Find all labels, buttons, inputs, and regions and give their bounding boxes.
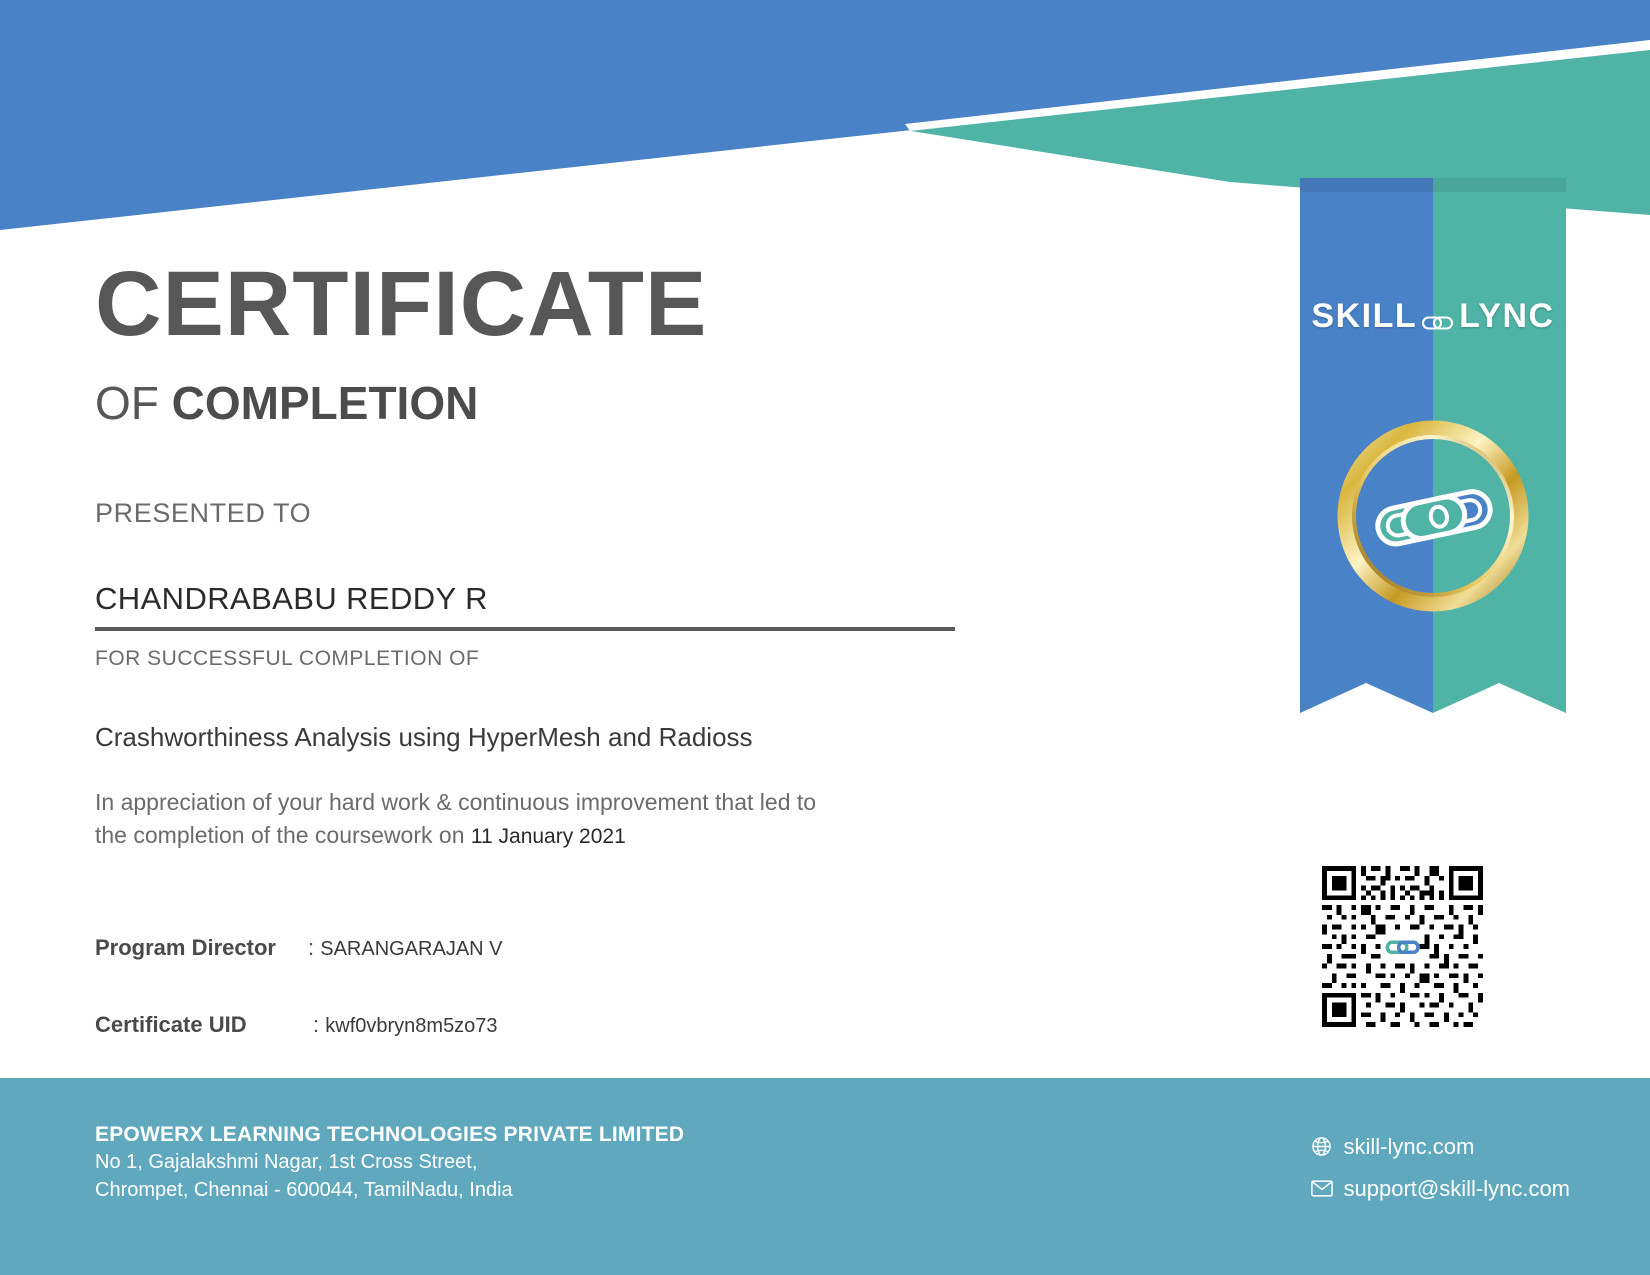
- course-title: Crashworthiness Analysis using HyperMesh…: [95, 722, 753, 753]
- skill-lync-logo: SKILL LYNC: [1300, 290, 1566, 342]
- program-director-row: Program Director: SARANGARAJAN V: [95, 935, 503, 961]
- footer-website-row[interactable]: skill-lync.com: [1311, 1126, 1571, 1168]
- presented-to-label: PRESENTED TO: [95, 498, 311, 529]
- appreciation-line-1: In appreciation of your hard work & cont…: [95, 789, 816, 815]
- certificate-uid-label: Certificate UID: [95, 1012, 313, 1038]
- program-director-separator: :: [308, 935, 314, 960]
- page-title: CERTIFICATE: [95, 258, 707, 350]
- appreciation-line-2: the completion of the coursework on: [95, 822, 471, 848]
- subtitle-of: OF: [95, 377, 159, 429]
- subtitle-completion: COMPLETION: [172, 377, 479, 429]
- qr-code-icon[interactable]: [1322, 866, 1483, 1027]
- certificate-page: SKILL LYNC: [0, 0, 1650, 1275]
- footer-address-line-1: No 1, Gajalakshmi Nagar, 1st Cross Stree…: [95, 1149, 684, 1177]
- certificate-uid-row: Certificate UID: kwf0vbryn8m5zo73: [95, 1012, 498, 1038]
- footer-address-line-2: Chrompet, Chennai - 600044, TamilNadu, I…: [95, 1177, 684, 1205]
- certificate-uid-value: kwf0vbryn8m5zo73: [325, 1015, 497, 1037]
- program-director-name: SARANGARAJAN V: [320, 938, 502, 960]
- footer-website-text: skill-lync.com: [1344, 1126, 1475, 1168]
- footer-email-text: support@skill-lync.com: [1344, 1168, 1571, 1210]
- page-subtitle: OF COMPLETION: [95, 380, 478, 426]
- recipient-underline: [95, 627, 955, 631]
- logo-word-right: LYNC: [1459, 297, 1554, 336]
- gold-medal-seal-icon: [1337, 420, 1529, 612]
- recipient-name: CHANDRABABU REDDY R: [95, 581, 488, 617]
- completion-date: 11 January 2021: [471, 825, 626, 848]
- footer-company-name: EPOWERX LEARNING TECHNOLOGIES PRIVATE LI…: [95, 1121, 684, 1149]
- logo-word-left: SKILL: [1311, 297, 1417, 336]
- banner-shadow-strip: [1300, 178, 1566, 192]
- footer-bar: EPOWERX LEARNING TECHNOLOGIES PRIVATE LI…: [0, 1078, 1650, 1275]
- footer-company-block: EPOWERX LEARNING TECHNOLOGIES PRIVATE LI…: [95, 1121, 684, 1205]
- footer-email-row[interactable]: support@skill-lync.com: [1311, 1168, 1571, 1210]
- for-completion-label: FOR SUCCESSFUL COMPLETION OF: [95, 647, 479, 671]
- program-director-label: Program Director: [95, 935, 308, 961]
- envelope-icon: [1311, 1178, 1333, 1200]
- appreciation-text: In appreciation of your hard work & cont…: [95, 786, 925, 851]
- footer-contact-block: skill-lync.com support@skill-lync.com: [1311, 1126, 1571, 1210]
- certificate-uid-separator: :: [313, 1012, 319, 1037]
- link-chain-icon: [1421, 306, 1455, 332]
- globe-icon: [1311, 1136, 1333, 1158]
